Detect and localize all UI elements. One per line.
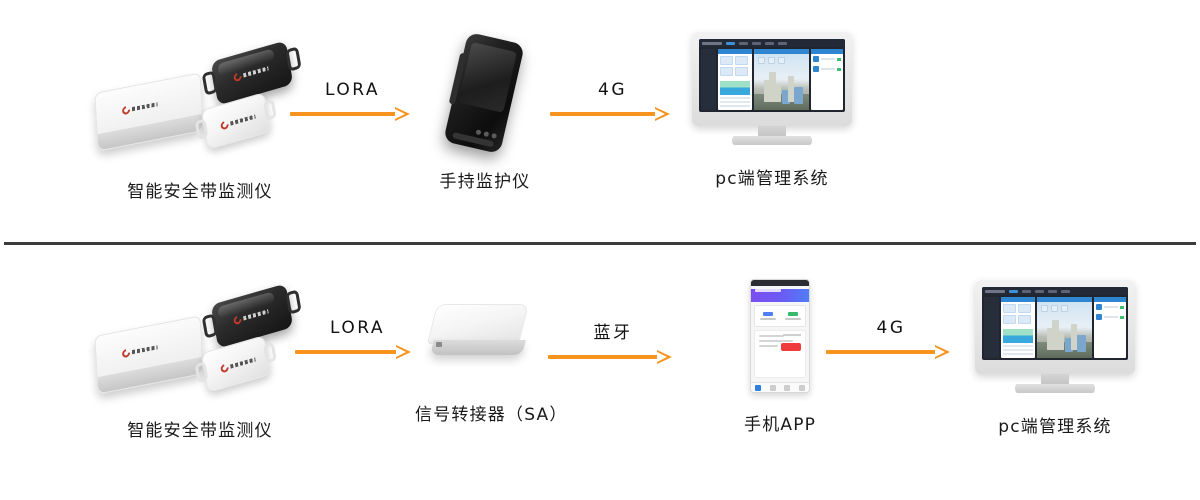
arrow-label: 蓝牙 (548, 318, 678, 343)
monitor-screen (699, 39, 845, 112)
node-pc-management-system-row2: pc端管理系统 (975, 280, 1135, 437)
monitor-bezel (975, 280, 1135, 374)
desktop-monitor-image (692, 32, 852, 150)
arrow-4g-row1: 4G (550, 80, 675, 121)
repeater-port-icon (436, 342, 442, 347)
node-smart-belt-monitor-row2: 智能安全带监测仪 (55, 288, 345, 441)
repeater-side-face (430, 340, 526, 355)
node-smart-belt-monitor-row1: 智能安全带监测仪 (55, 45, 345, 202)
sensor-group-image (85, 288, 315, 398)
monitor-base (1015, 384, 1095, 393)
architecture-diagram: 智能安全带监测仪 LORA 手持监护仪 4G (0, 0, 1200, 500)
arrow-lora-row1: LORA (290, 80, 415, 121)
rugged-handheld-icon (443, 32, 525, 154)
arrow-label: 4G (550, 80, 675, 100)
node-label: 智能安全带监测仪 (55, 177, 345, 202)
node-label: 信号转接器（SA） (415, 400, 545, 425)
node-label: 手持监护仪 (425, 167, 545, 192)
monitor-screen (982, 287, 1128, 360)
app-header (751, 289, 809, 302)
white-sensor-small-icon (201, 92, 271, 150)
monitor-bezel (692, 32, 852, 126)
arrow-lora-row2: LORA (295, 318, 420, 359)
phone-frame (750, 279, 810, 393)
section-divider (4, 242, 1196, 245)
node-handheld-monitor: 手持监护仪 (425, 33, 545, 192)
white-sensor-large-icon (94, 315, 203, 394)
repeater-top-face (427, 304, 529, 344)
phone-status-bar (751, 280, 809, 286)
white-sensor-small-icon (201, 335, 271, 393)
alert-badge (781, 343, 801, 351)
node-label: 手机APP (744, 410, 816, 435)
desktop-monitor-image (975, 280, 1135, 398)
arrow-bluetooth: 蓝牙 (548, 318, 678, 364)
node-pc-management-system-row1: pc端管理系统 (692, 32, 852, 189)
arrow-4g-row2: 4G (826, 318, 956, 359)
arrow-label: LORA (290, 80, 415, 100)
node-label: pc端管理系统 (975, 412, 1135, 437)
node-signal-repeater: 信号转接器（SA） (415, 290, 545, 425)
repeater-box-image (420, 290, 540, 370)
app-alert-list (754, 330, 806, 378)
node-label: pc端管理系统 (692, 164, 852, 189)
arrow-label: LORA (295, 318, 420, 338)
handheld-device-image (425, 33, 545, 153)
node-mobile-app: 手机APP (744, 279, 816, 435)
smartphone-image (744, 279, 816, 395)
white-sensor-large-icon (94, 72, 203, 151)
app-stats-card (754, 305, 806, 327)
app-tab-bar (751, 382, 809, 392)
monitor-base (732, 136, 812, 145)
node-label: 智能安全带监测仪 (55, 416, 345, 441)
sensor-group-image (85, 45, 315, 155)
arrow-label: 4G (826, 318, 956, 338)
